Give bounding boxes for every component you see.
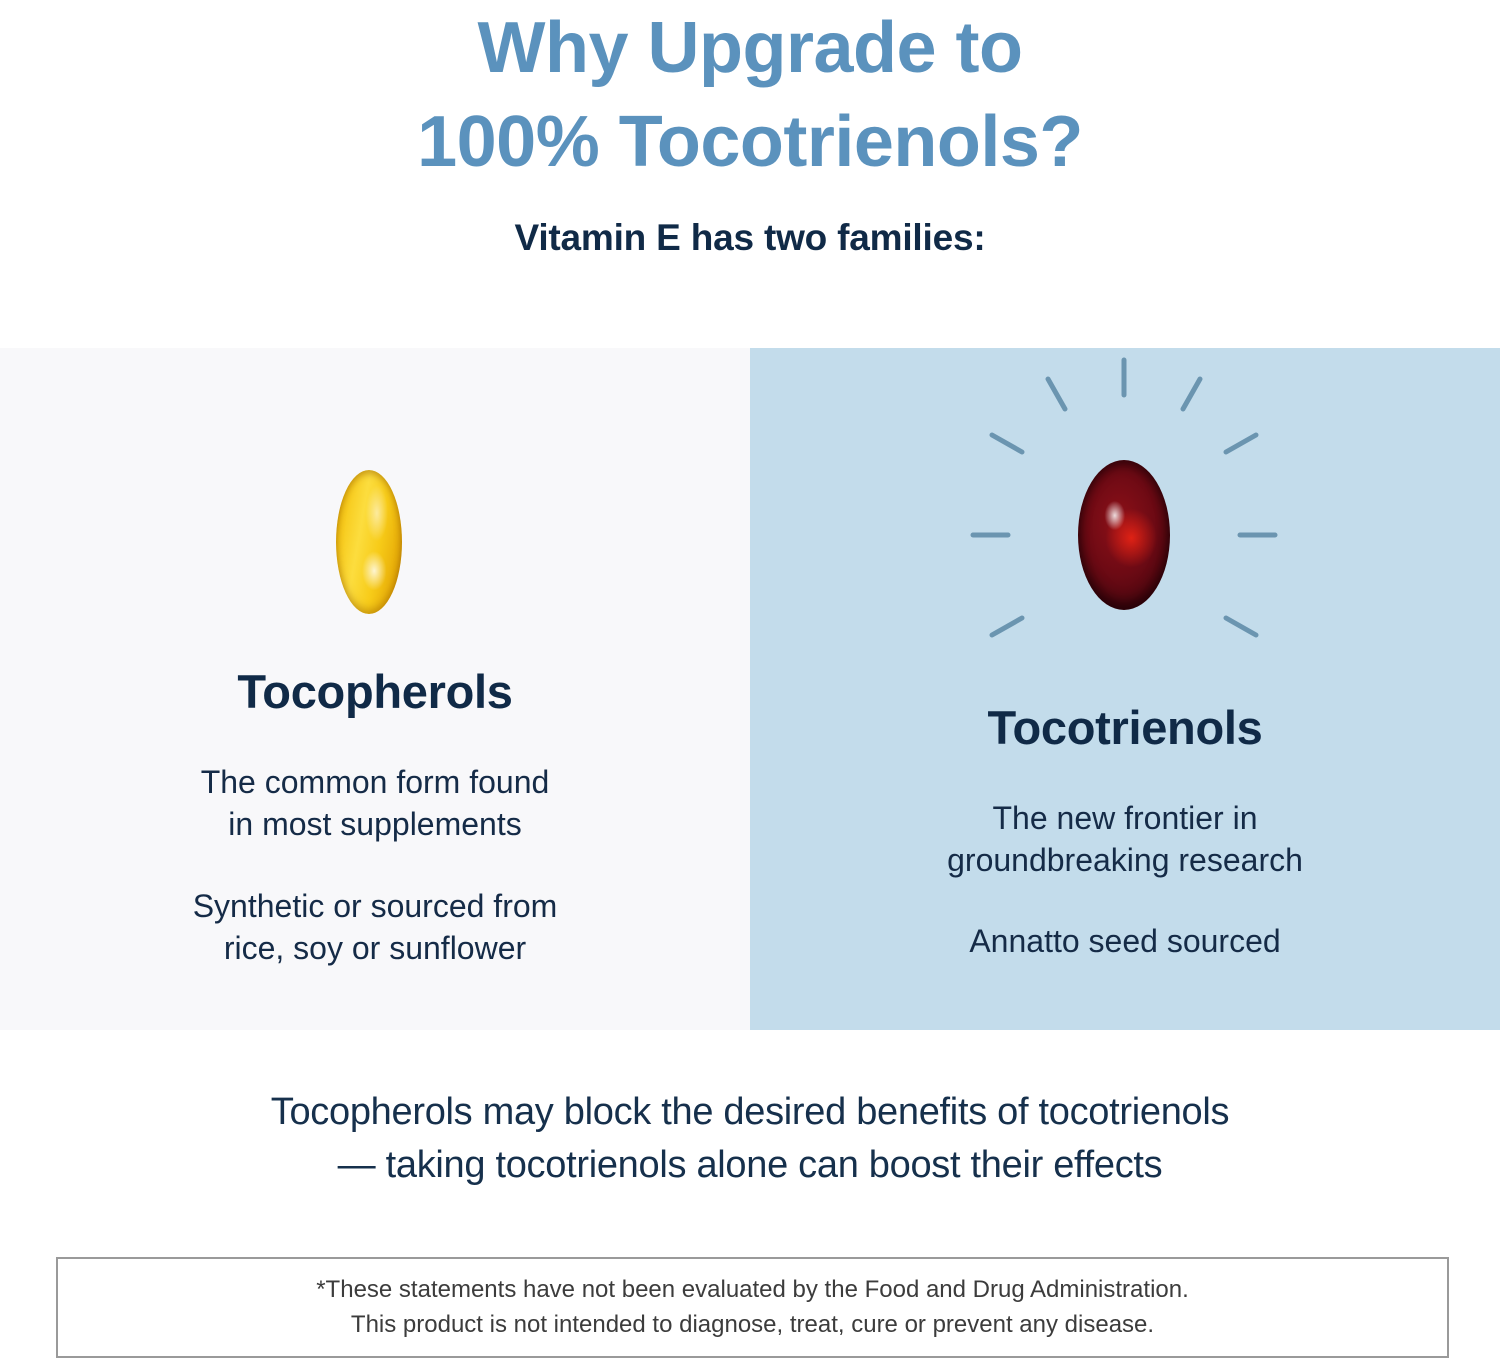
- yellow-softgel-capsule-icon: [336, 470, 402, 614]
- panel-tocotrienols: Tocotrienols The new frontier in groundb…: [750, 348, 1500, 1030]
- disclaimer-box: *These statements have not been evaluate…: [56, 1257, 1449, 1358]
- panel-description-tocopherols-1: The common form found in most supplement…: [0, 762, 750, 845]
- infographic-page: Why Upgrade to 100% Tocotrienols? Vitami…: [0, 0, 1500, 1364]
- panel-tocopherols: Tocopherols The common form found in mos…: [0, 348, 750, 1030]
- panel-description-tocopherols-2: Synthetic or sourced from rice, soy or s…: [0, 886, 750, 969]
- header: Why Upgrade to 100% Tocotrienols? Vitami…: [0, 0, 1500, 259]
- red-softgel-capsule-icon: [1078, 460, 1170, 610]
- tocopherol-artwork: [0, 348, 750, 638]
- comparison-panels: Tocopherols The common form found in mos…: [0, 348, 1500, 1030]
- panel-description-tocotrienols-1: The new frontier in groundbreaking resea…: [750, 798, 1500, 881]
- tocotrienol-artwork: [750, 348, 1500, 638]
- page-subtitle: Vitamin E has two families:: [0, 217, 1500, 259]
- panel-title-tocopherols: Tocopherols: [0, 664, 750, 719]
- conclusion-statement: Tocopherols may block the desired benefi…: [0, 1086, 1500, 1192]
- page-title: Why Upgrade to 100% Tocotrienols?: [0, 0, 1500, 189]
- panel-title-tocotrienols: Tocotrienols: [750, 700, 1500, 755]
- panel-description-tocotrienols-2: Annatto seed sourced: [750, 921, 1500, 963]
- disclaimer-text: *These statements have not been evaluate…: [316, 1273, 1189, 1341]
